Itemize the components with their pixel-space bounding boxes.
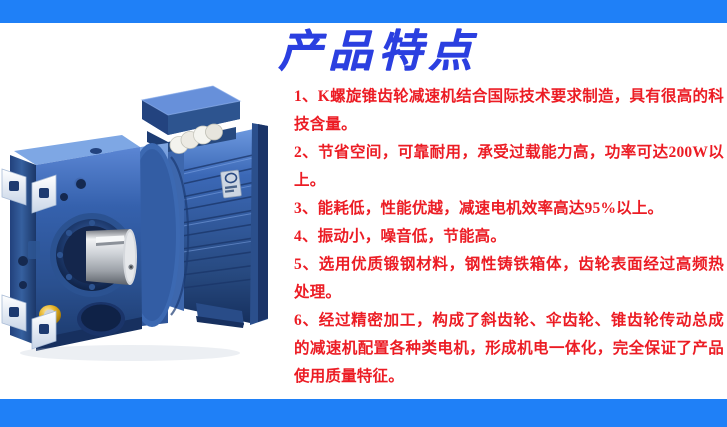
top-accent-bar xyxy=(0,0,727,23)
feature-item-2: 2、节省空间，可靠耐用，承受过载能力高，功率可达200W以上。 xyxy=(294,139,724,195)
feature-item-5: 5、选用优质锻钢材料，钢性铸铁箱体，齿轮表面经过高频热处理。 xyxy=(294,251,724,307)
page-title: 产品特点 xyxy=(278,30,478,74)
feature-list: 1、K螺旋锥齿轮减速机结合国际技术要求制造，具有很高的科技含量。 2、节省空间，… xyxy=(294,83,724,391)
feature-item-6: 6、经过精密加工，构成了斜齿轮、伞齿轮、锥齿轮传动总成的减速机配置各种类电机，形… xyxy=(294,307,724,391)
feature-item-3: 3、能耗低，性能优越，减速电机效率高达95%以上。 xyxy=(294,195,724,223)
text-column: 产品特点 1、K螺旋锥齿轮减速机结合国际技术要求制造，具有很高的科技含量。 2、… xyxy=(268,23,727,399)
bottom-accent-bar xyxy=(0,399,727,427)
motor-nameplate xyxy=(220,170,241,198)
gear-reducer-illustration xyxy=(0,23,268,399)
product-photo xyxy=(0,23,268,399)
feature-item-1: 1、K螺旋锥齿轮减速机结合国际技术要求制造，具有很高的科技含量。 xyxy=(294,83,724,139)
product-feature-banner: 产品特点 1、K螺旋锥齿轮减速机结合国际技术要求制造，具有很高的科技含量。 2、… xyxy=(0,0,727,427)
feature-item-4: 4、振动小，噪音低，节能高。 xyxy=(294,223,724,251)
output-shaft xyxy=(86,229,137,285)
